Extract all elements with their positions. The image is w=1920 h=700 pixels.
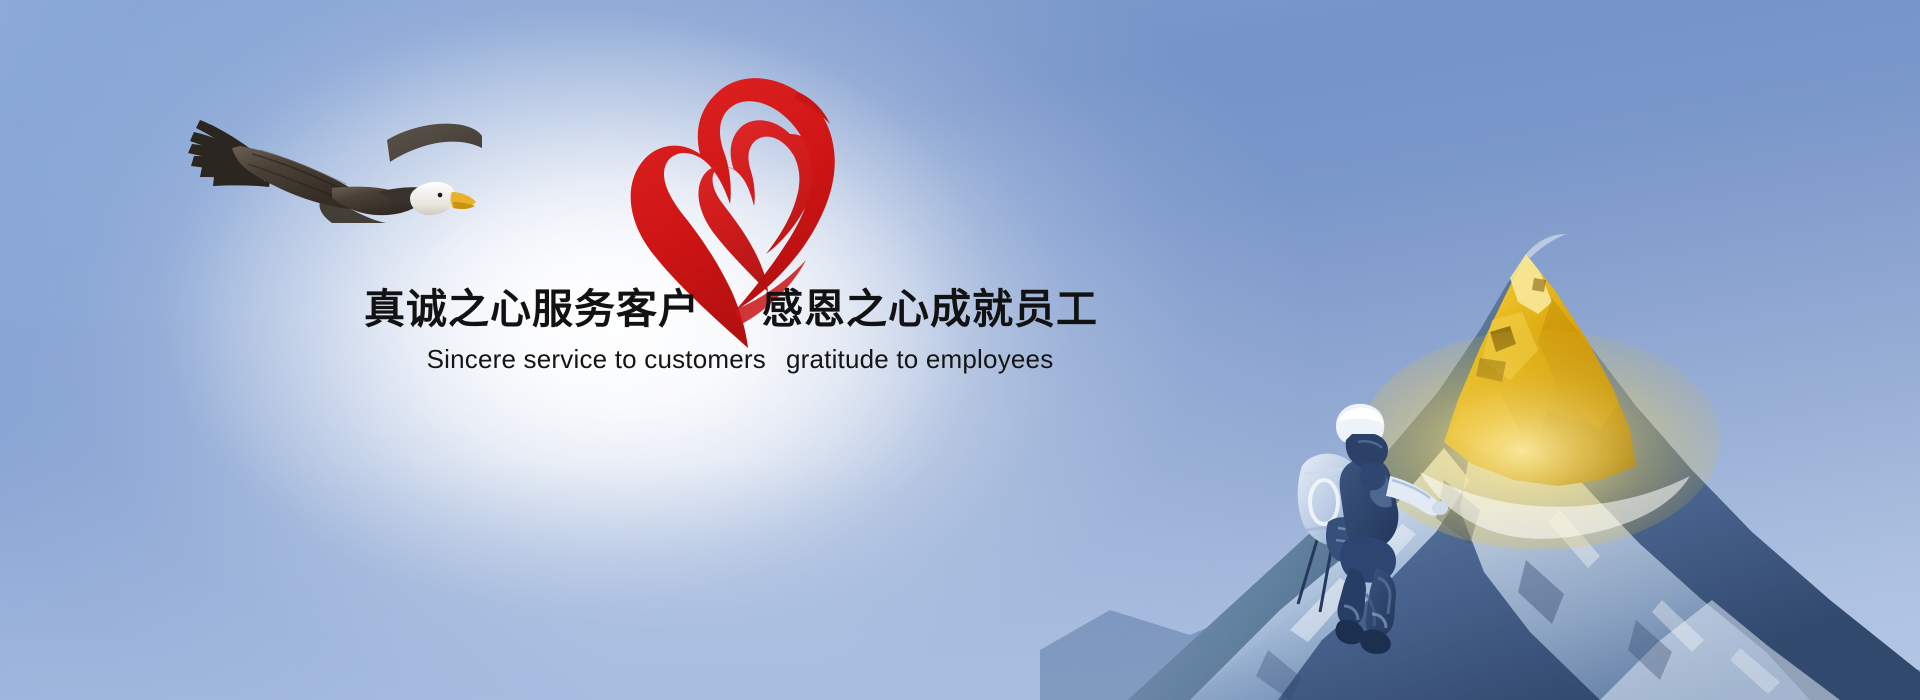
subtitle-line: Sincere service to customersgratitude to… [360, 344, 1120, 375]
mountain-icon [1040, 180, 1920, 700]
company-culture-banner: 真诚之心服务客户 感恩之心成就员工 Sincere service to cus… [0, 0, 1920, 700]
subtitle-right-text: gratitude to employees [786, 344, 1053, 374]
subtitle-left-text: Sincere service to customers [427, 344, 766, 374]
climber-icon [1280, 398, 1470, 658]
heart-icon [608, 58, 858, 358]
eagle-icon [182, 88, 482, 223]
